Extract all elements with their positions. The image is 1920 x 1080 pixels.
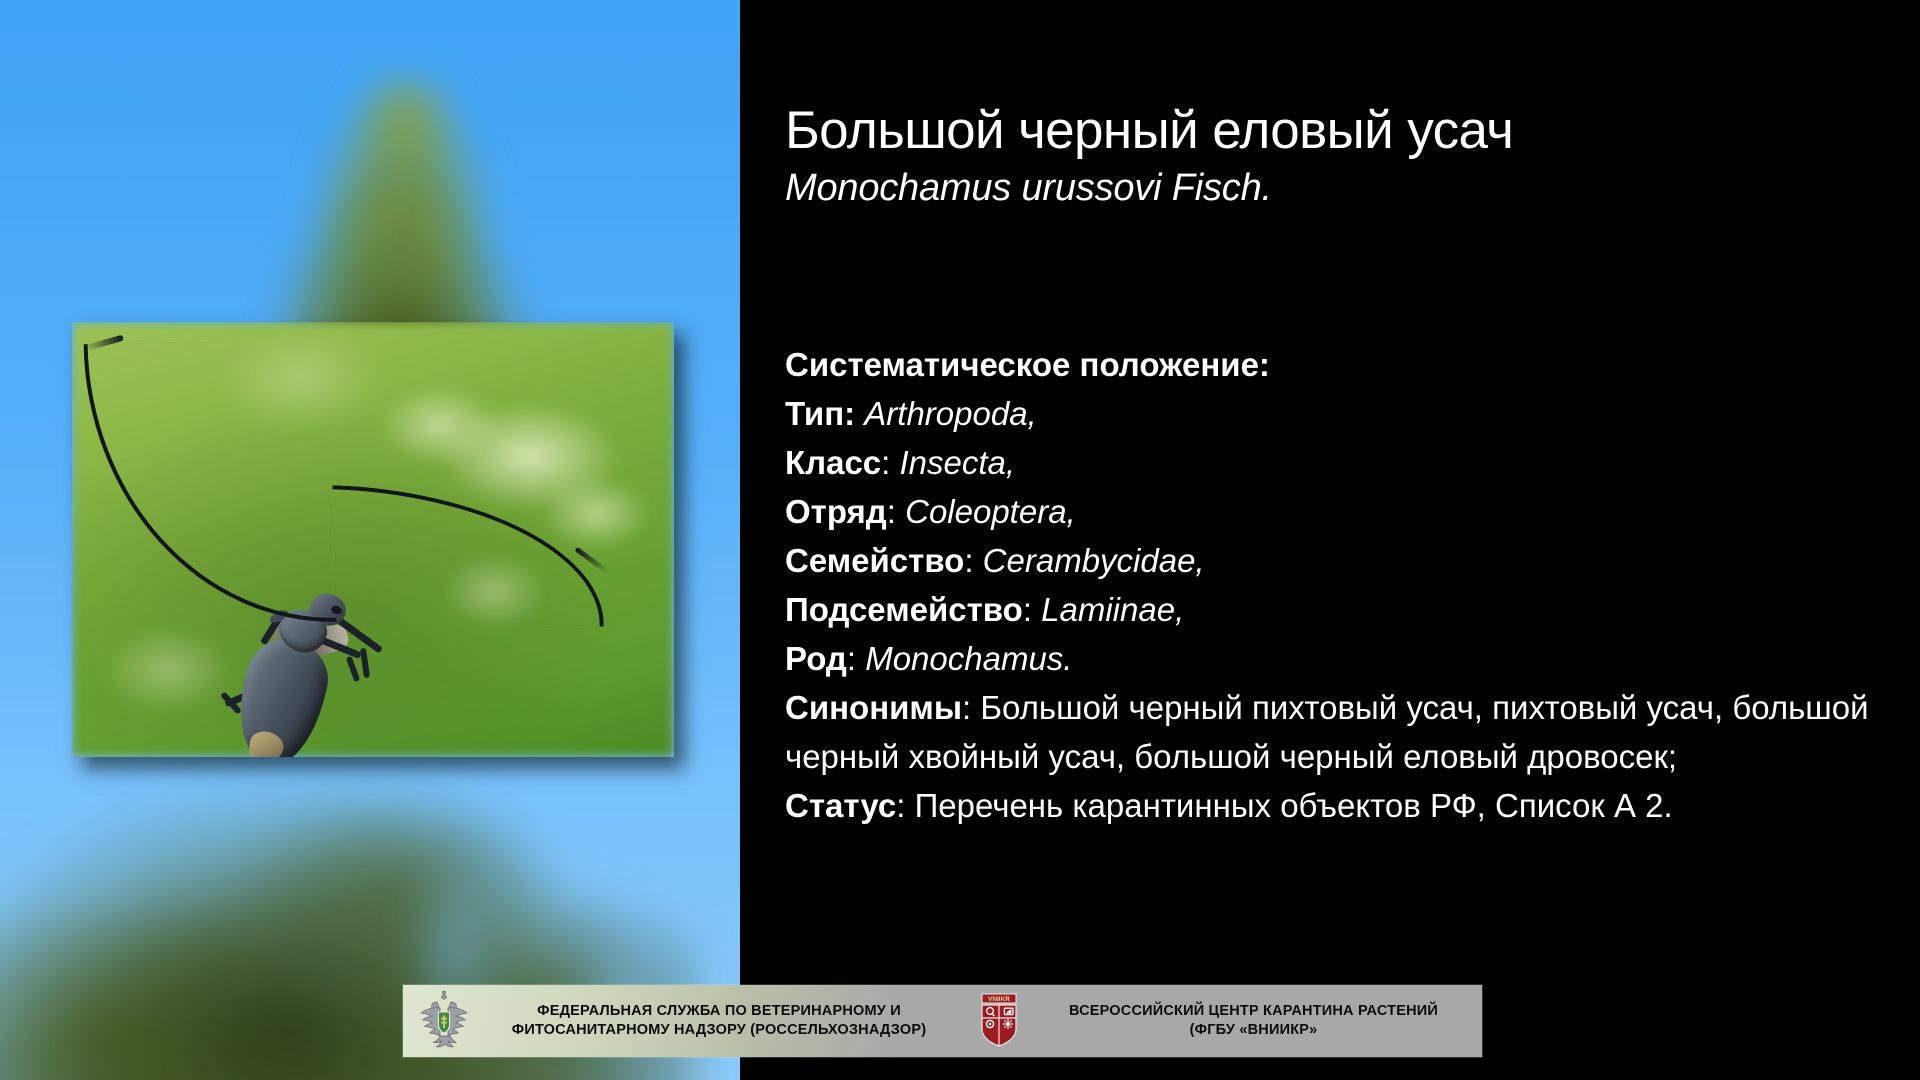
taxonomy-row-subfamily: Подсемейство: Lamiinae, xyxy=(785,585,1890,634)
taxonomy-label-family: Семейство xyxy=(785,542,964,579)
taxonomy-label-subfamily: Подсемейство xyxy=(785,591,1023,628)
beetle-inset-photo xyxy=(72,322,674,757)
footer-vniikr-block: VNIIKR xyxy=(963,985,1482,1057)
vniikr-shield-emblem-icon: VNIIKR xyxy=(973,990,1025,1052)
taxonomy-row-genus: Род: Monochamus. xyxy=(785,634,1890,683)
taxonomy-label-phylum: Тип: xyxy=(785,395,855,432)
rosselkhoznadzor-caption: ФЕДЕРАЛЬНАЯ СЛУЖБА ПО ВЕТЕРИНАРНОМУ И ФИ… xyxy=(475,1002,963,1039)
photo-panel xyxy=(0,0,740,1080)
taxonomy-label-class: Класс xyxy=(785,444,881,481)
vniikr-caption-line1: ВСЕРОССИЙСКИЙ ЦЕНТР КАРАНТИНА РАСТЕНИЙ xyxy=(1025,1002,1482,1021)
taxonomy-row-order: Отряд: Coleoptera, xyxy=(785,487,1890,536)
taxonomy-row-phylum: Тип: Arthropoda, xyxy=(785,389,1890,438)
sep-family: : xyxy=(964,542,982,579)
taxonomy-value-class: Insecta, xyxy=(900,444,1016,481)
sep-synonyms: : xyxy=(962,689,980,726)
taxonomy-row-synonyms: Синонимы: Большой черный пихтовый усач, … xyxy=(785,683,1890,781)
taxonomy-value-phylum: Arthropoda, xyxy=(864,395,1036,432)
species-common-name: Большой черный еловый усач xyxy=(785,103,1895,158)
rosselkhoznadzor-caption-line2: ФИТОСАНИТАРНОМУ НАДЗОРУ (РОССЕЛЬХОЗНАДЗО… xyxy=(475,1021,963,1040)
presentation-slide: Большой черный еловый усач Monochamus ur… xyxy=(0,0,1920,1080)
taxonomy-value-family: Cerambycidae, xyxy=(983,542,1205,579)
taxonomy-label-order: Отряд xyxy=(785,493,887,530)
taxonomy-heading: Систематическое положение: xyxy=(785,340,1890,389)
rosselkhoznadzor-eagle-emblem-icon xyxy=(413,990,475,1052)
vniikr-caption-line2: (ФГБУ «ВНИИКР» xyxy=(1025,1021,1482,1040)
sep-class: : xyxy=(881,444,899,481)
title-block: Большой черный еловый усач Monochamus ur… xyxy=(785,103,1895,209)
taxonomy-value-subfamily: Lamiinae, xyxy=(1041,591,1184,628)
sep-status: : xyxy=(896,787,914,824)
taxonomy-heading-label: Систематическое положение: xyxy=(785,346,1270,383)
taxonomy-row-status: Статус: Перечень карантинных объектов РФ… xyxy=(785,781,1890,830)
sep-genus: : xyxy=(847,640,865,677)
taxonomy-row-class: Класс: Insecta, xyxy=(785,438,1890,487)
footer-bar: ФЕДЕРАЛЬНАЯ СЛУЖБА ПО ВЕТЕРИНАРНОМУ И ФИ… xyxy=(403,985,1482,1057)
taxonomy-label-status: Статус xyxy=(785,787,896,824)
taxonomy-label-synonyms: Синонимы xyxy=(785,689,962,726)
sep-order: : xyxy=(887,493,905,530)
taxonomy-value-status: Перечень карантинных объектов РФ, Список… xyxy=(915,787,1673,824)
vniikr-emblem-caption: VNIIKR xyxy=(988,996,1010,1003)
taxonomy-value-genus: Monochamus. xyxy=(865,640,1072,677)
footer-rosselkhoznadzor-block: ФЕДЕРАЛЬНАЯ СЛУЖБА ПО ВЕТЕРИНАРНОМУ И ФИ… xyxy=(403,985,963,1057)
text-panel: Большой черный еловый усач Monochamus ur… xyxy=(740,0,1920,1080)
rosselkhoznadzor-caption-line1: ФЕДЕРАЛЬНАЯ СЛУЖБА ПО ВЕТЕРИНАРНОМУ И xyxy=(475,1002,963,1021)
vniikr-caption: ВСЕРОССИЙСКИЙ ЦЕНТР КАРАНТИНА РАСТЕНИЙ (… xyxy=(1025,1002,1482,1039)
taxonomy-value-order: Coleoptera, xyxy=(905,493,1076,530)
taxonomy-block: Систематическое положение: Тип: Arthropo… xyxy=(785,340,1890,830)
taxonomy-label-genus: Род xyxy=(785,640,847,677)
species-latin-name: Monochamus urussovi Fisch. xyxy=(785,169,1895,209)
taxonomy-row-family: Семейство: Cerambycidae, xyxy=(785,536,1890,585)
sep-subfamily: : xyxy=(1023,591,1041,628)
